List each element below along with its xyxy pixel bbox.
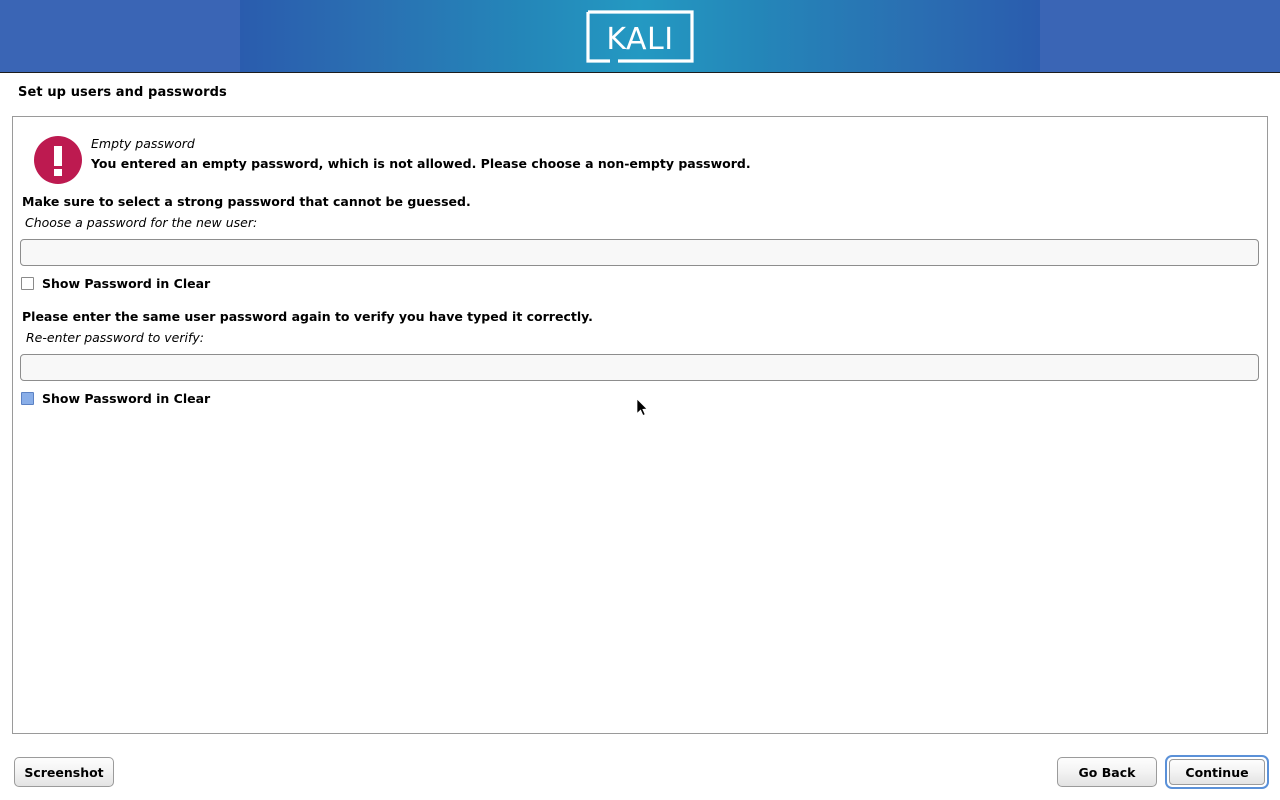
kali-logo-text: KALI bbox=[606, 22, 673, 57]
password-field-label: Choose a password for the new user: bbox=[25, 215, 257, 230]
installer-window: KALI Set up users and passwords Empty pa… bbox=[0, 0, 1280, 800]
continue-button-focus-ring: Continue bbox=[1165, 755, 1269, 789]
show-password-label-2: Show Password in Clear bbox=[42, 391, 210, 406]
verify-password-input[interactable] bbox=[20, 354, 1259, 381]
header-banner: KALI bbox=[0, 0, 1280, 73]
continue-button[interactable]: Continue bbox=[1169, 759, 1265, 785]
exclamation-dot bbox=[54, 169, 62, 176]
show-password-checkbox-row-1[interactable]: Show Password in Clear bbox=[21, 276, 210, 291]
page-title: Set up users and passwords bbox=[18, 85, 227, 100]
password-strength-hint: Make sure to select a strong password th… bbox=[22, 194, 471, 209]
verify-field-label: Re-enter password to verify: bbox=[26, 330, 204, 345]
password-input[interactable] bbox=[20, 239, 1259, 266]
error-message: You entered an empty password, which is … bbox=[91, 156, 751, 171]
show-password-label-1: Show Password in Clear bbox=[42, 276, 210, 291]
screenshot-button[interactable]: Screenshot bbox=[14, 757, 114, 787]
show-password-checkbox-2[interactable] bbox=[21, 392, 34, 405]
show-password-checkbox-1[interactable] bbox=[21, 277, 34, 290]
verify-hint: Please enter the same user password agai… bbox=[22, 309, 593, 324]
error-title: Empty password bbox=[91, 136, 195, 151]
exclamation-stem bbox=[54, 146, 62, 166]
go-back-button[interactable]: Go Back bbox=[1057, 757, 1157, 787]
show-password-checkbox-row-2[interactable]: Show Password in Clear bbox=[21, 391, 210, 406]
main-panel: Empty password You entered an empty pass… bbox=[12, 116, 1268, 734]
error-exclamation-icon bbox=[34, 136, 82, 184]
kali-logo-icon: KALI bbox=[584, 8, 696, 65]
